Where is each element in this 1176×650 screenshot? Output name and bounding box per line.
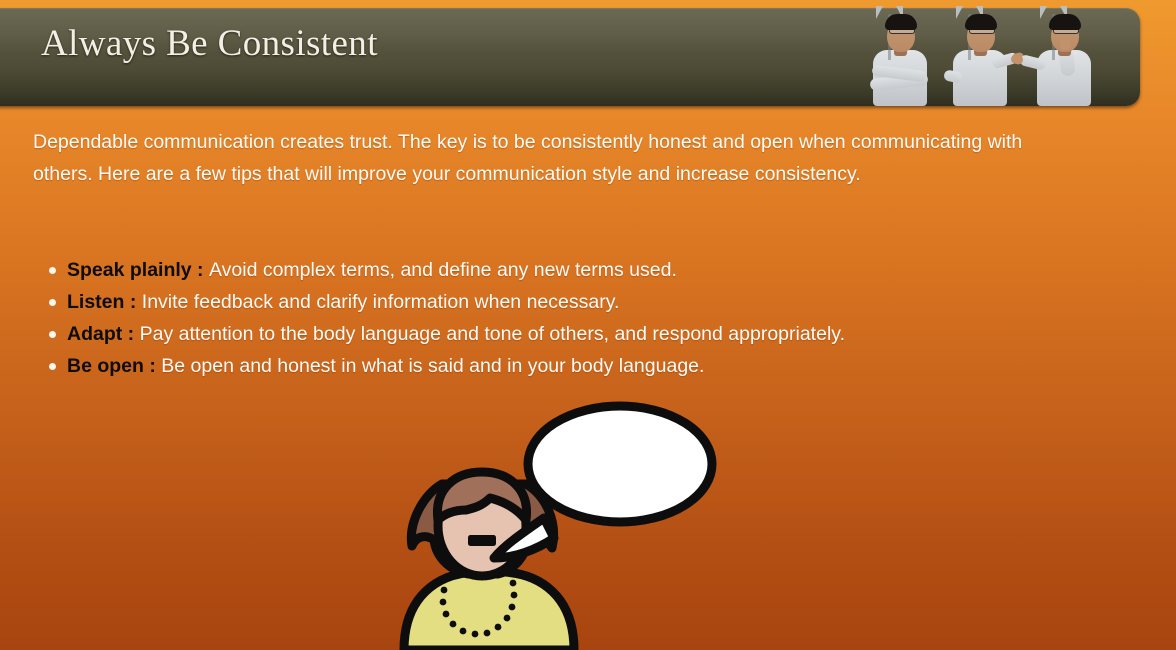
tip-separator: :: [144, 355, 161, 377]
intro-paragraph: Dependable communication creates trust. …: [33, 126, 1053, 190]
collar-left: [1040, 6, 1047, 19]
bullet-dot-icon: [49, 299, 56, 306]
tips-list: Speak plainly : Avoid complex terms, and…: [47, 254, 1107, 382]
bullet-dot-icon: [49, 331, 56, 338]
tip-text: Invite feedback and clarify information …: [142, 291, 620, 313]
tip-lead: Listen: [67, 291, 124, 313]
tip-separator: :: [192, 259, 209, 281]
hair: [885, 14, 917, 30]
collar-left: [956, 6, 963, 19]
photo-man-arms-crossed: [862, 6, 938, 106]
hand-on-chin: [1060, 40, 1071, 50]
list-item: Adapt : Pay attention to the body langua…: [47, 318, 1107, 350]
bullet-dot-icon: [49, 363, 56, 370]
woman-mouth: [468, 535, 496, 546]
collar-left: [876, 6, 883, 19]
tip-separator: :: [124, 291, 141, 313]
list-item: Listen : Invite feedback and clarify inf…: [47, 286, 1107, 318]
woman-speech-bubble-illustration: [386, 398, 726, 650]
hair: [1049, 14, 1081, 30]
bullet-dot-icon: [49, 267, 56, 274]
slide-canvas: Always Be Consistent: [0, 0, 1176, 650]
list-item: Speak plainly : Avoid complex terms, and…: [47, 254, 1107, 286]
header-photo-strip: [862, 2, 1112, 106]
photo-man-shrugging: [942, 6, 1018, 106]
tip-lead: Speak plainly: [67, 259, 192, 281]
tip-text: Be open and honest in what is said and i…: [161, 355, 704, 377]
tip-separator: :: [122, 323, 139, 345]
tip-lead: Adapt: [67, 323, 122, 345]
hair: [965, 14, 997, 30]
tip-text: Pay attention to the body language and t…: [140, 323, 845, 345]
photo-man-hand-on-chin: [1026, 6, 1102, 106]
tip-lead: Be open: [67, 355, 144, 377]
woman-shirt: [404, 572, 574, 650]
page-title: Always Be Consistent: [41, 22, 378, 65]
tip-text: Avoid complex terms, and define any new …: [209, 259, 677, 281]
speech-bubble: [528, 406, 712, 522]
list-item: Be open : Be open and honest in what is …: [47, 350, 1107, 382]
